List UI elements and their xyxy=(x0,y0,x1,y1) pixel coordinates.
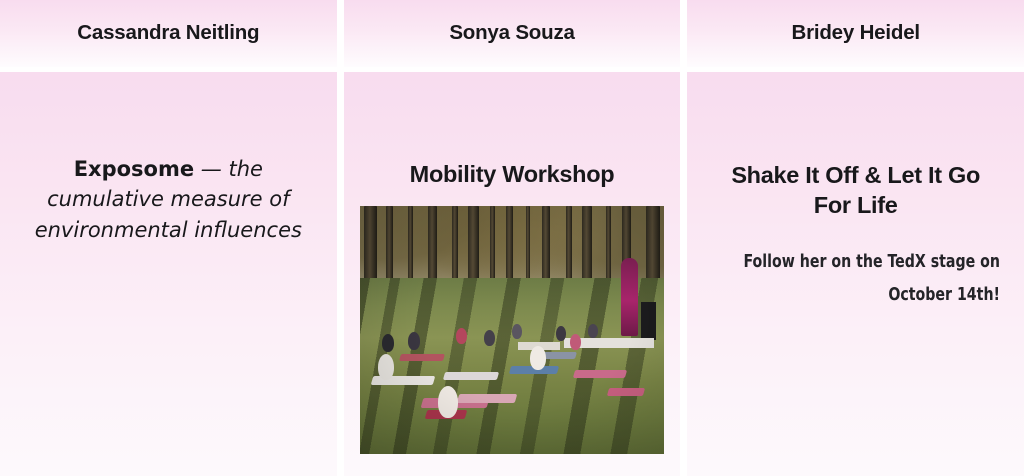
session-title: Mobility Workshop xyxy=(410,160,615,189)
talk-title: Shake It Off & Let It Go For Life xyxy=(711,160,1001,220)
body-cell-column-2: Mobility Workshop xyxy=(344,72,681,476)
speaker-name-2: Sonya Souza xyxy=(449,21,574,46)
speaker-schedule-table: Cassandra Neitling Sonya Souza Bridey He… xyxy=(0,0,1024,476)
outdoor-yoga-workshop-photo xyxy=(360,206,664,454)
table-body-row: Exposome — the cumulative measure of env… xyxy=(0,72,1024,476)
table-header-row: Cassandra Neitling Sonya Souza Bridey He… xyxy=(0,0,1024,67)
photo-vignette xyxy=(360,206,664,454)
body-cell-column-1: Exposome — the cumulative measure of env… xyxy=(0,72,337,476)
talk-note: Follow her on the TedX stage on October … xyxy=(740,246,999,311)
speaker-name-1: Cassandra Neitling xyxy=(77,21,259,46)
definition-term: Exposome xyxy=(74,157,194,181)
header-cell-speaker-1: Cassandra Neitling xyxy=(0,0,337,67)
talk-note-line-1: Follow her on the TedX stage on xyxy=(740,246,999,278)
speaker-name-3: Bridey Heidel xyxy=(791,21,919,46)
header-cell-speaker-3: Bridey Heidel xyxy=(687,0,1024,67)
body-cell-column-3: Shake It Off & Let It Go For Life Follow… xyxy=(687,72,1024,476)
exposome-definition: Exposome — the cumulative measure of env… xyxy=(28,154,308,245)
talk-note-line-2: October 14th! xyxy=(740,279,999,311)
header-cell-speaker-2: Sonya Souza xyxy=(344,0,681,67)
